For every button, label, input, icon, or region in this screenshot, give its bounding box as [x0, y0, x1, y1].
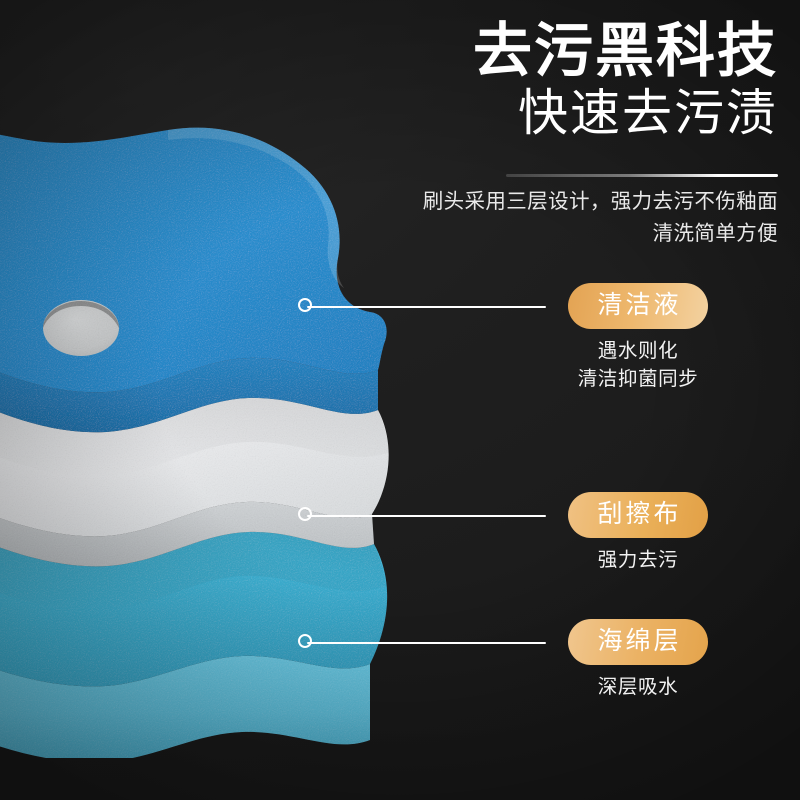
callout-description: 深层吸水	[508, 674, 768, 702]
callout-pill-label: 海绵层	[568, 619, 707, 665]
page-title: 去污黑科技	[358, 20, 778, 83]
callout-scrub-cloth: 刮擦布 强力去污	[508, 492, 768, 575]
divider-rule	[506, 174, 778, 177]
callout-description-line-2: 清洁抑菌同步	[508, 366, 768, 394]
description-block: 刷头采用三层设计，强力去污不伤釉面 清洗简单方便	[308, 186, 778, 250]
center-mounting-hole	[43, 300, 119, 356]
callout-description: 遇水则化 清洁抑菌同步	[508, 338, 768, 393]
description-line-2: 清洗简单方便	[308, 218, 778, 250]
callout-description-line-1: 遇水则化	[508, 338, 768, 366]
callout-pill-label: 刮擦布	[568, 492, 707, 538]
headline-block: 去污黑科技 快速去污渍	[358, 20, 778, 144]
infographic-page: 去污黑科技 快速去污渍 刷头采用三层设计，强力去污不伤釉面 清洗简单方便 清洁液…	[0, 0, 800, 800]
cleaning-agent-layer	[0, 126, 387, 432]
callout-pill-label: 清洁液	[568, 283, 707, 329]
callout-description-line-1: 深层吸水	[508, 674, 768, 702]
callout-sponge: 海绵层 深层吸水	[508, 619, 768, 702]
page-subtitle: 快速去污渍	[358, 83, 778, 144]
callout-description-line-1: 强力去污	[508, 547, 768, 575]
callout-cleaning-agent: 清洁液 遇水则化 清洁抑菌同步	[508, 283, 768, 393]
product-illustration	[0, 58, 422, 758]
callout-description: 强力去污	[508, 547, 768, 575]
description-line-1: 刷头采用三层设计，强力去污不伤釉面	[308, 186, 778, 218]
